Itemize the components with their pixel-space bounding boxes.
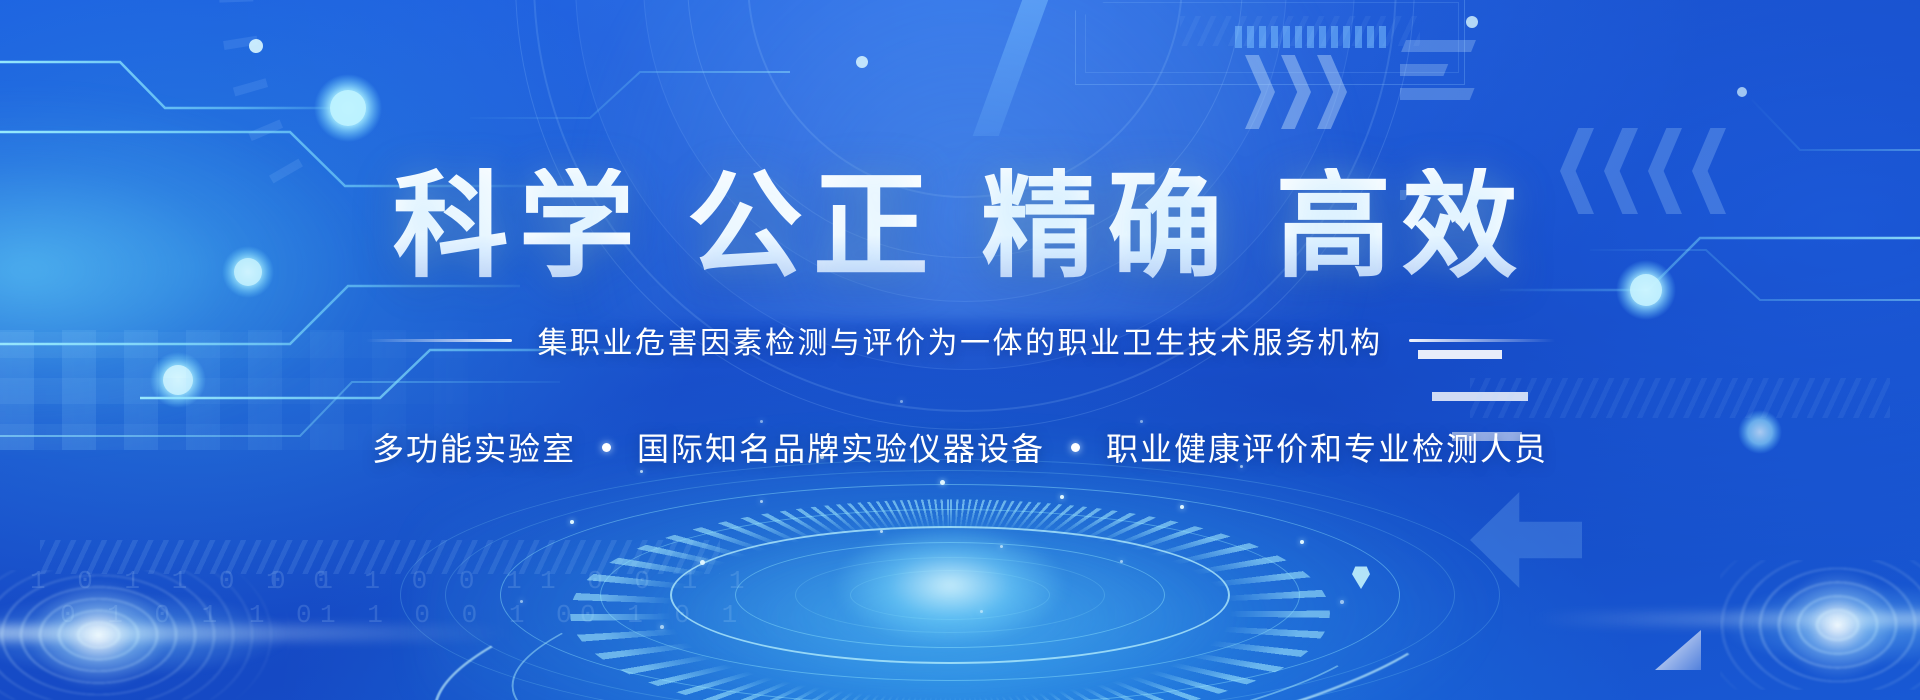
banner-content: 科学 公正 精确 高效 集职业危害因素检测与评价为一体的职业卫生技术服务机构 多…: [0, 0, 1920, 700]
banner-subtitle: 集职业危害因素检测与评价为一体的职业卫生技术服务机构: [538, 318, 1383, 362]
banner-feature-list: 多功能实验室 国际知名品牌实验仪器设备 职业健康评价和专业检测人员: [372, 424, 1548, 470]
bullet-separator-icon: [602, 443, 611, 452]
subtitle-rule-left: [366, 339, 512, 342]
banner-headline: 科学 公正 精确 高效: [393, 168, 1528, 284]
feature-item-1: 多功能实验室: [372, 424, 576, 470]
subtitle-rule-right: [1409, 339, 1555, 342]
tech-banner: 1 0 1 1 0 1 0 0 1 1 0 0 1 1 0 0 1 1 0 1 …: [0, 0, 1920, 700]
feature-item-2: 国际知名品牌实验仪器设备: [637, 424, 1045, 470]
banner-subtitle-row: 集职业危害因素检测与评价为一体的职业卫生技术服务机构: [366, 318, 1555, 362]
feature-item-3: 职业健康评价和专业检测人员: [1106, 424, 1548, 470]
bullet-separator-icon: [1071, 443, 1080, 452]
